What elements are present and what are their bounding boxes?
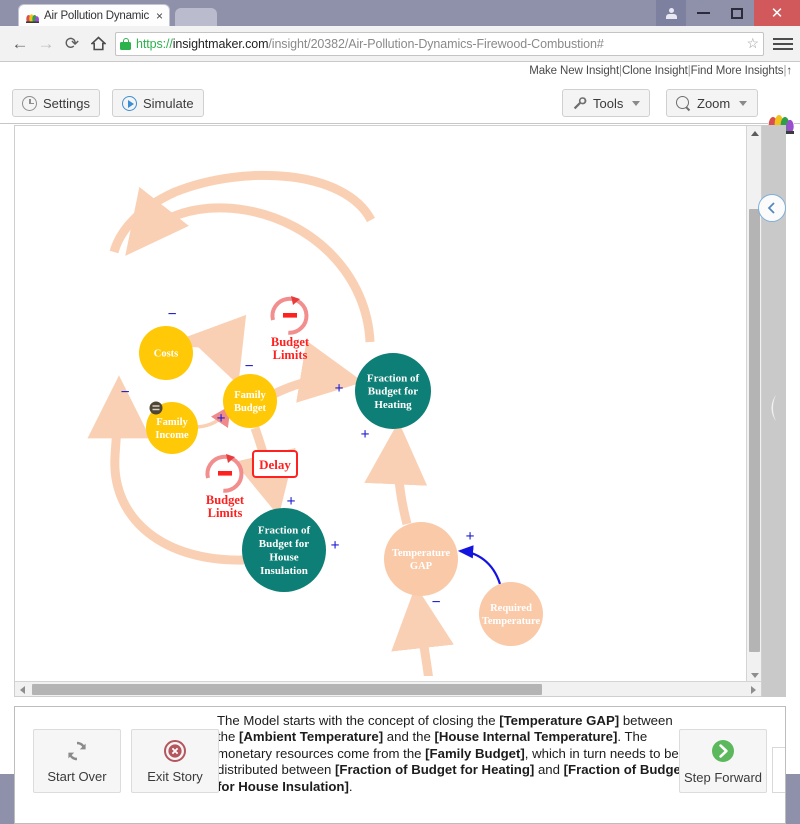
clone-insight-link[interactable]: Clone Insight [622, 65, 688, 77]
start-over-button[interactable]: Start Over [33, 729, 121, 793]
forward-icon[interactable]: → [33, 31, 59, 57]
story-term: [Fraction of Budget for Heating] [335, 762, 534, 777]
node-label: Income [155, 430, 189, 441]
minimize-button[interactable] [686, 0, 720, 26]
browser-window: Air Pollution Dynamics - F × ← → ⟳ https… [0, 0, 800, 774]
node-label: Insulation [260, 565, 308, 577]
tab-title: Air Pollution Dynamics - F [44, 10, 149, 22]
vertical-scroll-thumb[interactable] [749, 209, 760, 652]
zoom-button[interactable]: Zoom [666, 89, 758, 117]
story-text-run: and the [383, 729, 434, 744]
loop-label: Limits [208, 506, 243, 520]
diagram-node-costs[interactable]: Costs [139, 326, 193, 380]
node-label: Required [490, 603, 532, 614]
settings-label: Settings [43, 96, 90, 111]
node-label: Budget for [368, 386, 419, 398]
close-button[interactable] [754, 0, 800, 26]
window-controls [656, 0, 800, 26]
node-label: GAP [410, 561, 433, 572]
node-label: Heating [374, 399, 412, 411]
app-toolbar: Settings Simulate Tools Zoom [0, 82, 800, 124]
back-icon[interactable]: ← [7, 31, 33, 57]
start-over-label: Start Over [47, 769, 106, 784]
canvas-horizontal-scrollbar[interactable] [15, 681, 761, 696]
tools-label: Tools [593, 96, 623, 111]
loop-label: Budget [206, 493, 245, 507]
url-host: insightmaker.com [173, 37, 269, 51]
node-badge-icon [150, 402, 163, 415]
diagram-node-fraction-heating[interactable]: Fraction ofBudget forHeating [355, 353, 431, 429]
settings-button[interactable]: Settings [12, 89, 100, 117]
node-label: Family [156, 417, 188, 428]
story-paragraph: The Model starts with the concept of clo… [217, 713, 687, 795]
loop-label: Limits [273, 348, 308, 362]
tools-button[interactable]: Tools [562, 89, 650, 117]
wrench-icon [572, 96, 587, 111]
step-forward-label: Step Forward [684, 770, 762, 785]
polarity-label-p4: + [216, 410, 225, 427]
favicon-icon [26, 10, 39, 23]
polarity-label-p3: − [244, 358, 253, 375]
loop-label: Budget [271, 335, 310, 349]
node-label: Temperature [482, 616, 541, 627]
browser-tab[interactable]: Air Pollution Dynamics - F × [18, 4, 170, 27]
url-scheme: https:// [136, 37, 173, 51]
loop-marker-budget-limits-top[interactable]: BudgetLimits [271, 296, 310, 362]
polarity-label-p10: − [431, 594, 440, 611]
story-text-run: and [534, 762, 563, 777]
address-bar[interactable]: https://insightmaker.com/insight/20382/A… [115, 32, 764, 56]
reload-icon[interactable]: ⟳ [59, 31, 85, 57]
polarity-label-p8: + [330, 537, 339, 554]
polarity-label-p6: + [360, 426, 369, 443]
story-panel: The Model starts with the concept of clo… [14, 706, 786, 824]
causal-loop-diagram: CostsFamilyIncomeFamilyBudgetFraction of… [15, 126, 741, 676]
diagram-node-family-income[interactable]: FamilyIncome [146, 402, 198, 455]
step-forward-button[interactable]: Step Forward [679, 729, 767, 793]
polarity-label-p5: + [334, 380, 343, 397]
chevron-down-icon [739, 101, 747, 106]
close-circle-icon [163, 739, 187, 763]
maximize-button[interactable] [720, 0, 754, 26]
zoom-label: Zoom [697, 96, 730, 111]
insight-links: Make New Insight|Clone Insight|Find More… [529, 65, 792, 77]
profile-icon[interactable] [656, 0, 686, 26]
new-tab-button[interactable] [175, 8, 217, 27]
node-label: Costs [154, 349, 179, 360]
find-more-insights-link[interactable]: Find More Insights [691, 65, 784, 77]
story-term: [House Internal Temperature] [434, 729, 617, 744]
clock-icon [22, 96, 37, 111]
node-label: Fraction of [367, 372, 420, 384]
simulate-button[interactable]: Simulate [112, 89, 204, 117]
diagram-canvas-container[interactable]: CostsFamilyIncomeFamilyBudgetFraction of… [14, 125, 762, 697]
diagram-node-fraction-insulation[interactable]: Fraction ofBudget forHouseInsulation [242, 508, 326, 592]
make-new-insight-link[interactable]: Make New Insight [529, 65, 619, 77]
diagram-node-family-budget[interactable]: FamilyBudget [223, 374, 277, 428]
diagram-canvas[interactable]: CostsFamilyIncomeFamilyBudgetFraction of… [15, 126, 741, 676]
node-label: Temperature [392, 548, 451, 559]
horizontal-scroll-thumb[interactable] [32, 684, 542, 695]
node-label: Family [234, 390, 266, 401]
polarity-label-p9: + [465, 528, 474, 545]
chevron-down-icon [632, 101, 640, 106]
node-label: Budget for [259, 538, 310, 550]
node-label: Fraction of [258, 525, 311, 537]
bookmark-star-icon[interactable]: ☆ [742, 35, 759, 52]
play-icon [122, 96, 137, 111]
navigation-bar: ← → ⟳ https://insightmaker.com/insight/2… [0, 26, 800, 62]
node-label: Budget [234, 403, 267, 414]
polarity-label-p2: − [120, 384, 129, 401]
tab-close-icon[interactable]: × [154, 10, 165, 22]
exit-story-label: Exit Story [147, 769, 203, 784]
page-content: Make New Insight|Clone Insight|Find More… [0, 62, 800, 774]
diagram-node-required-temperature[interactable]: RequiredTemperature [479, 582, 543, 646]
title-bar: Air Pollution Dynamics - F × [0, 0, 800, 26]
arrow-right-circle-icon [710, 738, 736, 764]
delay-label: Delay [259, 457, 291, 472]
scroll-right-icon[interactable] [746, 682, 761, 697]
url-text: https://insightmaker.com/insight/20382/A… [136, 37, 604, 51]
home-icon[interactable] [85, 31, 111, 57]
simulate-label: Simulate [143, 96, 194, 111]
refresh-icon [65, 739, 89, 763]
story-text-run: . [349, 779, 353, 794]
delay-marker[interactable]: Delay [253, 451, 297, 477]
story-term: [Ambient Temperature] [239, 729, 383, 744]
browser-menu-icon[interactable] [773, 38, 793, 50]
loop-marker-budget-limits-bottom[interactable]: BudgetLimits [206, 454, 245, 520]
scroll-up-icon[interactable] [747, 126, 762, 141]
diagram-node-temperature-gap[interactable]: TemperatureGAP [384, 522, 458, 596]
story-term: [Family Budget] [425, 746, 525, 761]
url-path: /insight/20382/Air-Pollution-Dynamics-Fi… [268, 37, 603, 51]
polarity-label-p1: − [167, 306, 176, 323]
node-label: House [269, 551, 298, 563]
story-text-run: The Model starts with the concept of clo… [217, 713, 499, 728]
search-icon [676, 96, 691, 111]
scroll-top-link[interactable]: ↑ [786, 65, 792, 77]
scroll-left-icon[interactable] [15, 682, 30, 697]
lock-icon [120, 37, 131, 50]
exit-story-button[interactable]: Exit Story [131, 729, 219, 793]
story-term: [Temperature GAP] [499, 713, 619, 728]
polarity-label-p7: + [286, 493, 295, 510]
story-scrollbar[interactable] [772, 747, 785, 793]
collapse-panel-button[interactable] [758, 194, 786, 222]
